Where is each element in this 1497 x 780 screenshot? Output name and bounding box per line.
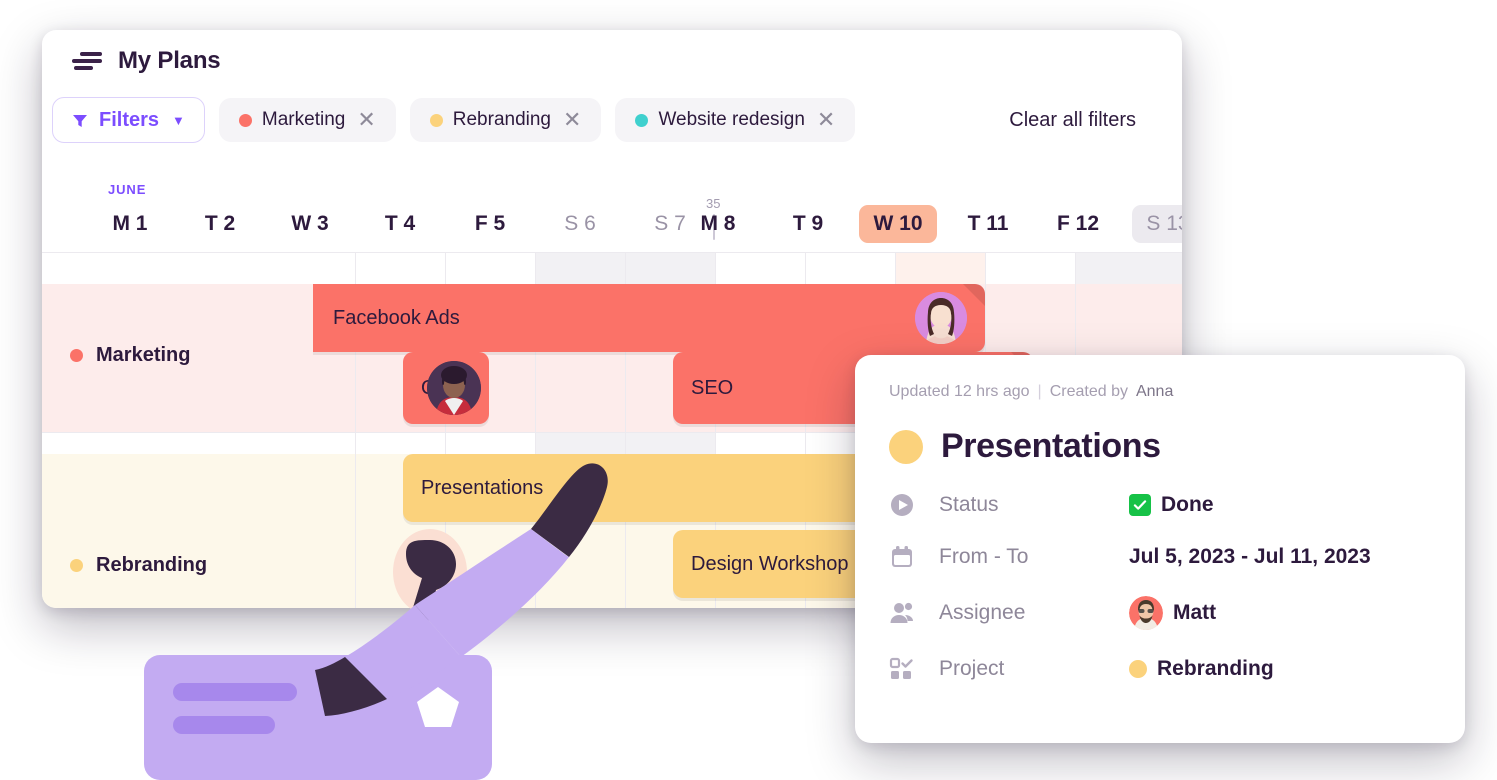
- day-label: S 6: [550, 205, 610, 243]
- detail-field-dates: From - To Jul 5, 2023 - Jul 11, 2023: [889, 544, 1431, 570]
- task-detail-panel: Updated 12 hrs ago | Created by Anna Pre…: [855, 355, 1465, 743]
- row-label: Marketing: [96, 344, 190, 367]
- day-header-s13[interactable]: S 13: [1123, 200, 1182, 248]
- day-header-w10[interactable]: W 10: [853, 200, 943, 248]
- month-label: JUNE: [108, 182, 146, 197]
- field-label: Project: [939, 657, 1129, 681]
- day-header-f12[interactable]: F 12: [1033, 200, 1123, 248]
- page-title: My Plans: [118, 47, 220, 75]
- filters-label: Filters: [99, 109, 159, 132]
- sort-lines-icon[interactable]: [72, 50, 102, 72]
- field-value[interactable]: Matt: [1129, 596, 1216, 630]
- task-label: Facebook Ads: [331, 307, 460, 330]
- avatar[interactable]: [427, 361, 481, 415]
- day-label: T 9: [779, 205, 837, 243]
- day-label: W 10: [859, 205, 936, 243]
- close-icon[interactable]: ✕: [357, 109, 375, 131]
- project-name: Rebranding: [1157, 657, 1274, 681]
- chip-color-dot: [430, 114, 443, 127]
- task-label: Presentations: [421, 477, 543, 500]
- field-value[interactable]: Done: [1129, 493, 1214, 517]
- clear-all-filters-button[interactable]: Clear all filters: [1009, 109, 1162, 132]
- filter-bar: Filters ▼ Marketing ✕ Rebranding ✕ Websi…: [42, 92, 1182, 148]
- filter-chip-marketing[interactable]: Marketing ✕: [219, 98, 396, 142]
- project-color-dot: [889, 430, 923, 464]
- placeholder-line: [173, 716, 275, 734]
- people-icon: [889, 600, 915, 626]
- sidebar-item-rebranding[interactable]: Rebranding: [70, 554, 207, 577]
- day-header-t9[interactable]: T 9: [763, 200, 853, 248]
- close-icon[interactable]: ✕: [817, 109, 835, 131]
- funnel-icon: [72, 112, 88, 128]
- day-header-t11[interactable]: T 11: [943, 200, 1033, 248]
- day-label: F 12: [1043, 205, 1113, 243]
- assignee-name: Matt: [1173, 601, 1216, 625]
- calendar-icon: [889, 544, 915, 570]
- meta-separator: |: [1038, 383, 1042, 401]
- sidebar-item-marketing[interactable]: Marketing: [70, 344, 190, 367]
- day-header-w3[interactable]: W 3: [265, 200, 355, 248]
- close-icon[interactable]: ✕: [563, 109, 581, 131]
- row-color-dot: [70, 559, 83, 572]
- day-label: W 3: [277, 205, 342, 243]
- chevron-down-icon: ▼: [172, 113, 185, 128]
- detail-title: Presentations: [941, 427, 1161, 466]
- chip-label: Rebranding: [453, 109, 551, 131]
- detail-field-assignee: Assignee Matt: [889, 596, 1431, 630]
- field-label: Assignee: [939, 601, 1129, 625]
- filter-chip-rebranding[interactable]: Rebranding ✕: [410, 98, 602, 142]
- created-prefix: Created by: [1050, 383, 1128, 401]
- chip-label: Website redesign: [658, 109, 804, 131]
- field-label: Status: [939, 493, 1129, 517]
- task-bar-qa[interactable]: QA: [403, 352, 489, 424]
- title-bar: My Plans: [42, 30, 1182, 92]
- day-header-s6[interactable]: S 6: [535, 200, 625, 248]
- placeholder-line: [173, 683, 297, 701]
- filters-button[interactable]: Filters ▼: [52, 97, 205, 143]
- day-header-f5[interactable]: F 5: [445, 200, 535, 248]
- day-header-m1[interactable]: M 1: [85, 200, 175, 248]
- day-label: M 1: [98, 205, 161, 243]
- detail-field-project: Project Rebranding: [889, 656, 1431, 682]
- filter-chip-website-redesign[interactable]: Website redesign ✕: [615, 98, 855, 142]
- check-badge-icon: [1129, 494, 1151, 516]
- day-header-row: M 1 T 2 W 3 T 4 F 5 S 6 S 7 M 8 T 9 W 10…: [42, 200, 1182, 252]
- row-color-dot: [70, 349, 83, 362]
- day-label: T 2: [191, 205, 249, 243]
- day-header-t4[interactable]: T 4: [355, 200, 445, 248]
- project-color-dot: [1129, 660, 1147, 678]
- avatar[interactable]: [915, 292, 967, 344]
- project-icon: [889, 656, 915, 682]
- created-by-author[interactable]: Anna: [1136, 383, 1173, 401]
- play-circle-icon: [889, 492, 915, 518]
- row-label: Rebranding: [96, 554, 207, 577]
- detail-field-status: Status Done: [889, 492, 1431, 518]
- day-label: T 4: [371, 205, 429, 243]
- field-label: From - To: [939, 545, 1129, 569]
- day-label: M 8: [686, 205, 749, 243]
- task-bar-facebook-ads[interactable]: Facebook Ads: [313, 284, 985, 352]
- updated-text: Updated 12 hrs ago: [889, 383, 1030, 401]
- chip-color-dot: [635, 114, 648, 127]
- day-label: F 5: [461, 205, 519, 243]
- avatar: [1129, 596, 1163, 630]
- task-label: Design Workshop: [691, 553, 848, 576]
- chip-label: Marketing: [262, 109, 345, 131]
- grid-row-line: [42, 252, 1182, 253]
- detail-meta-line: Updated 12 hrs ago | Created by Anna: [889, 383, 1431, 401]
- chip-color-dot: [239, 114, 252, 127]
- day-label: S 13: [1132, 205, 1182, 243]
- field-value[interactable]: Rebranding: [1129, 657, 1274, 681]
- day-header-t2[interactable]: T 2: [175, 200, 265, 248]
- detail-title-row: Presentations: [889, 427, 1431, 466]
- pentagon-icon: [417, 687, 459, 727]
- task-label: SEO: [691, 377, 733, 400]
- day-label: T 11: [954, 205, 1023, 243]
- day-header-m8[interactable]: M 8: [673, 200, 763, 248]
- status-text: Done: [1161, 493, 1214, 517]
- field-value[interactable]: Jul 5, 2023 - Jul 11, 2023: [1129, 545, 1371, 569]
